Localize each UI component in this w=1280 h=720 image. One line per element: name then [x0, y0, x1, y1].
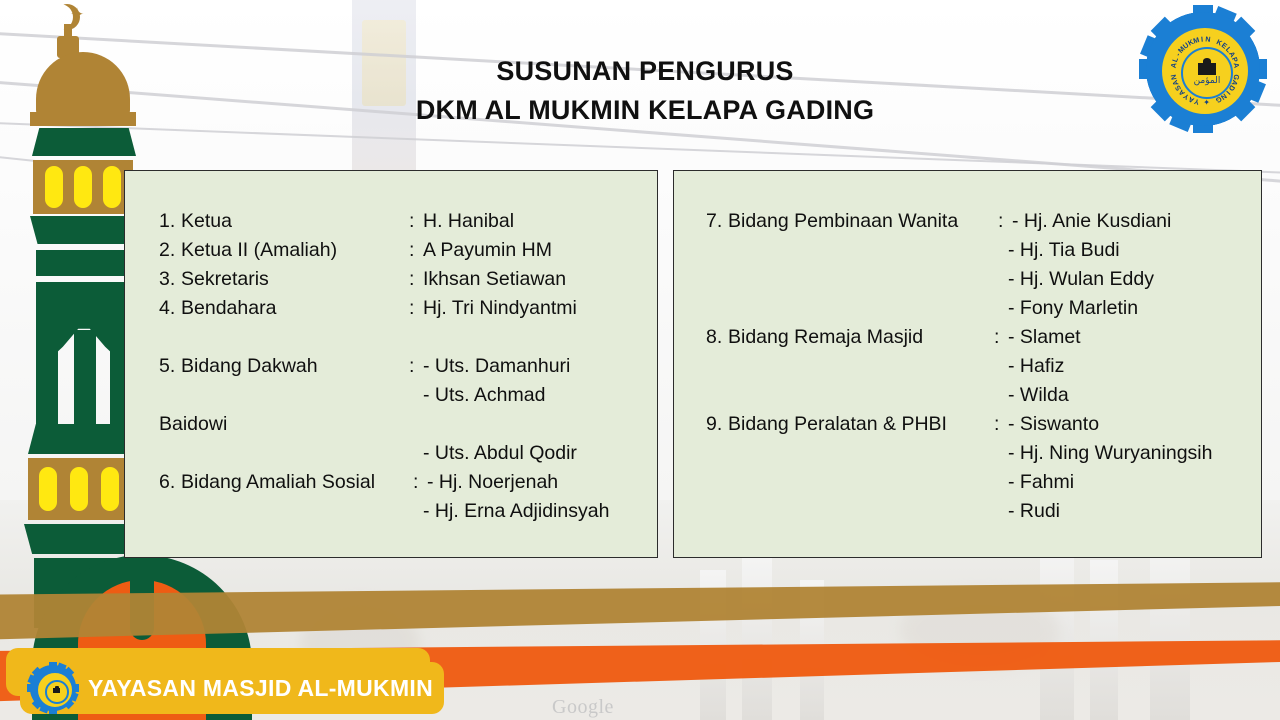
yayasan-logo: YAYASAN AL-MUKMIN KELAPA GADING المؤمن ✦	[1146, 12, 1260, 126]
list-row-number: 4.	[125, 294, 181, 323]
mosque-icon	[1198, 63, 1215, 75]
pengurus-rows-right: 7.Bidang Pembinaan Wanita:- Hj. Anie Kus…	[674, 171, 1261, 557]
list-row-number: 8.	[674, 323, 728, 352]
list-row-continuation: - Fahmi	[674, 468, 1261, 497]
list-row: 2.Ketua II (Amaliah):A Payumin HM	[125, 236, 657, 265]
lamp-icon	[101, 467, 119, 511]
list-row-continuation: - Wilda	[674, 381, 1261, 410]
list-row-number: 1.	[125, 207, 181, 236]
list-row-separator: :	[994, 410, 1008, 439]
list-row-value: - Uts. Achmad	[423, 381, 657, 410]
list-row-value: Ikhsan Setiawan	[423, 265, 657, 294]
list-row-continuation: - Uts. Abdul Qodir	[125, 439, 657, 468]
list-row: 3.Sekretaris:Ikhsan Setiawan	[125, 265, 657, 294]
list-row-value: - Hj. Ning Wuryaningsih	[1008, 439, 1261, 468]
list-row-continuation: - Rudi	[674, 497, 1261, 526]
list-row-value: - Siswanto	[1008, 410, 1261, 439]
list-row-number: 6.	[125, 468, 181, 497]
list-row-separator: :	[409, 236, 423, 265]
list-row-label: Bidang Pembinaan Wanita	[728, 207, 994, 236]
photo-column	[1150, 540, 1190, 720]
list-row-label: Sekretaris	[181, 265, 409, 294]
minaret-dome-base	[30, 112, 136, 126]
minaret-dome	[36, 52, 130, 118]
list-row-value: - Rudi	[1008, 497, 1261, 526]
list-row-label: Ketua	[181, 207, 409, 236]
list-row-number: 5.	[125, 352, 181, 381]
list-row-continuation: - Hafiz	[674, 352, 1261, 381]
list-row-continuation	[125, 323, 657, 352]
list-row-separator: :	[994, 207, 1012, 236]
list-row-number: 3.	[125, 265, 181, 294]
list-row-continuation: - Hj. Ning Wuryaningsih	[674, 439, 1261, 468]
list-row-wrapped-label: Baidowi	[125, 410, 657, 439]
list-row: 6.Bidang Amaliah Sosial:- Hj. Noerjenah	[125, 468, 657, 497]
list-row-value: A Payumin HM	[423, 236, 657, 265]
lamp-icon	[103, 166, 121, 208]
title-line-1: SUSUNAN PENGURUS	[230, 52, 1060, 91]
list-row-value: - Fahmi	[1008, 468, 1261, 497]
pengurus-list-box-left: 1.Ketua:H. Hanibal2.Ketua II (Amaliah):A…	[124, 170, 658, 558]
logo-ring-char: I	[1201, 35, 1204, 44]
list-row-continuation: - Uts. Achmad	[125, 381, 657, 410]
list-row-label: Bidang Dakwah	[181, 352, 409, 381]
google-watermark: Google	[552, 696, 614, 719]
list-row-continuation: - Hj. Wulan Eddy	[674, 265, 1261, 294]
minaret-lantern	[28, 458, 132, 520]
logo-star-icon: ✦	[1203, 98, 1210, 107]
list-row-value: - Hj. Anie Kusdiani	[1012, 207, 1261, 236]
list-row-label: Bidang Amaliah Sosial	[181, 468, 409, 497]
lamp-icon	[39, 467, 57, 511]
minaret-band	[36, 250, 132, 276]
list-row: 8.Bidang Remaja Masjid:- Slamet	[674, 323, 1261, 352]
star-icon: ✦	[70, 6, 84, 23]
list-row-value: Hj. Tri Nindyantmi	[423, 294, 657, 323]
list-row-continuation: - Hj. Erna Adjidinsyah	[125, 497, 657, 526]
slide-title: SUSUNAN PENGURUS DKM AL MUKMIN KELAPA GA…	[230, 52, 1060, 130]
lamp-icon	[70, 467, 88, 511]
list-row-number: 2.	[125, 236, 181, 265]
minaret-cap	[24, 524, 140, 554]
pengurus-rows-left: 1.Ketua:H. Hanibal2.Ketua II (Amaliah):A…	[125, 171, 657, 557]
list-row-value: - Uts. Damanhuri	[423, 352, 657, 381]
list-row-separator: :	[409, 294, 423, 323]
logo-ring: YAYASAN AL-MUKMIN KELAPA GADING المؤمن ✦	[1160, 26, 1251, 117]
list-row-value: - Slamet	[1008, 323, 1261, 352]
photo-column	[742, 555, 772, 720]
list-row-label: Ketua II (Amaliah)	[181, 236, 409, 265]
logo-ring-char: A	[1232, 62, 1242, 69]
list-row: 4.Bendahara:Hj. Tri Nindyantmi	[125, 294, 657, 323]
list-row-value: - Fony Marletin	[1008, 294, 1261, 323]
list-row-separator: :	[409, 352, 423, 381]
list-row-value: - Hj. Erna Adjidinsyah	[423, 497, 657, 526]
minaret-cap	[30, 216, 138, 244]
logo-arabic-text: المؤمن	[1183, 76, 1232, 86]
list-row-value: - Hj. Tia Budi	[1008, 236, 1261, 265]
list-row-value: - Uts. Abdul Qodir	[423, 439, 657, 468]
list-row-value: - Hafiz	[1008, 352, 1261, 381]
presentation-slide: Google ✦ SUSUNAN	[0, 0, 1280, 720]
footer-label: YAYASAN MASJID AL-MUKMIN	[88, 675, 433, 702]
footer-banner: YAYASAN MASJID AL-MUKMIN	[20, 662, 444, 714]
minaret-cap	[32, 128, 136, 156]
list-row-continuation: - Hj. Tia Budi	[674, 236, 1261, 265]
logo-inner-ring	[45, 680, 69, 704]
list-row-label: Bidang Peralatan & PHBI	[728, 410, 994, 439]
logo-inner-ring: المؤمن	[1181, 47, 1234, 100]
list-row: 7.Bidang Pembinaan Wanita:- Hj. Anie Kus…	[674, 207, 1261, 236]
list-row-continuation: - Fony Marletin	[674, 294, 1261, 323]
lamp-icon	[45, 166, 63, 208]
list-row-number: 7.	[674, 207, 728, 236]
list-row-label: Bendahara	[181, 294, 409, 323]
list-row: 1.Ketua:H. Hanibal	[125, 207, 657, 236]
list-row-value: - Wilda	[1008, 381, 1261, 410]
mosque-icon	[53, 688, 60, 693]
list-row-label: Bidang Remaja Masjid	[728, 323, 994, 352]
list-row-separator: :	[409, 468, 427, 497]
list-row-value: - Hj. Noerjenah	[427, 468, 657, 497]
list-row-separator: :	[994, 323, 1008, 352]
pengurus-list-box-right: 7.Bidang Pembinaan Wanita:- Hj. Anie Kus…	[673, 170, 1262, 558]
list-row: 5.Bidang Dakwah:- Uts. Damanhuri	[125, 352, 657, 381]
list-row-separator: :	[409, 207, 423, 236]
title-line-2: DKM AL MUKMIN KELAPA GADING	[230, 91, 1060, 130]
footer-logo	[30, 665, 76, 711]
logo-ring-char: N	[1205, 34, 1211, 43]
list-row: 9.Bidang Peralatan & PHBI:- Siswanto	[674, 410, 1261, 439]
logo-ring-char: M	[1192, 35, 1200, 45]
list-row-value: H. Hanibal	[423, 207, 657, 236]
list-row-separator: :	[409, 265, 423, 294]
lamp-icon	[74, 166, 92, 208]
list-row-number: 9.	[674, 410, 728, 439]
minaret-lantern	[33, 160, 133, 214]
list-row-value: - Hj. Wulan Eddy	[1008, 265, 1261, 294]
